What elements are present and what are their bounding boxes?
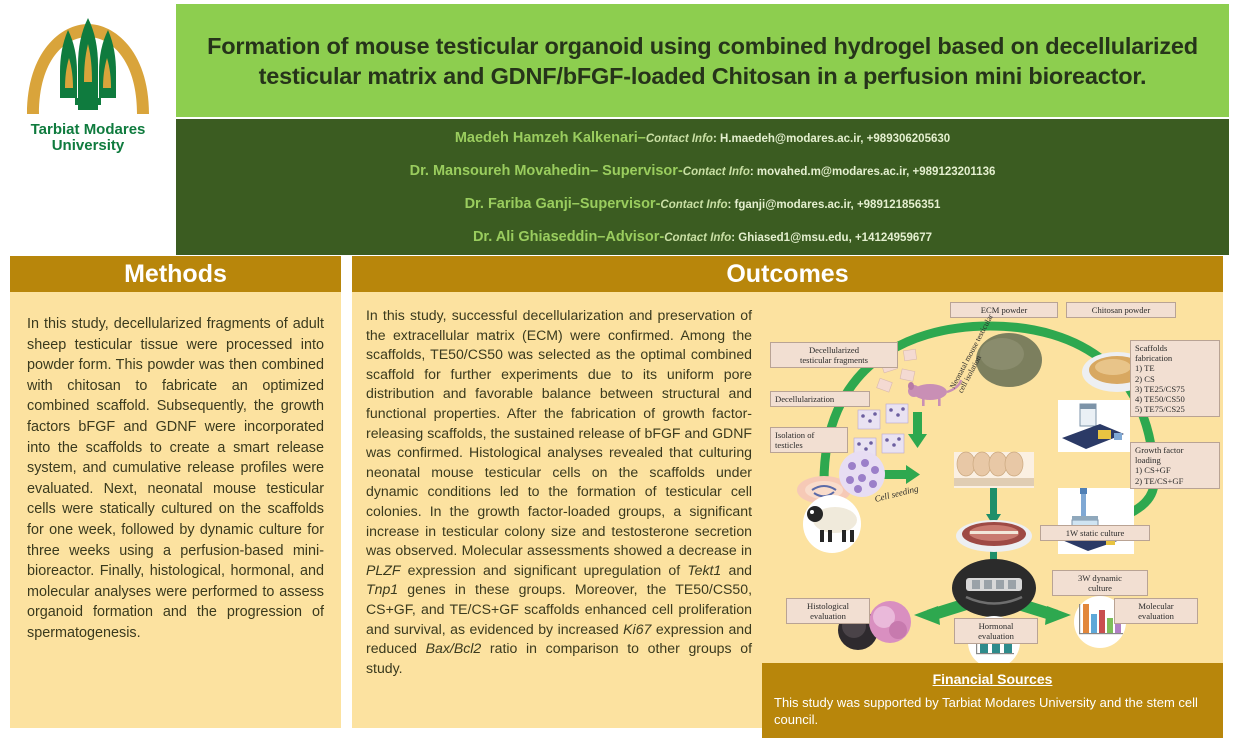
poster-title-banner: Formation of mouse testicular organoid u… [176, 4, 1229, 117]
poster-title: Formation of mouse testicular organoid u… [190, 31, 1215, 91]
diagram-label-histological-evaluation: Histological evaluation [786, 598, 870, 624]
diagram-label-growth-factor-loading: Growth factor loading 1) CS+GF 2) TE/CS+… [1130, 442, 1220, 489]
author-name: Dr. Fariba Ganji–Supervisor [465, 196, 656, 212]
methods-column: Methods In this study, decellularized fr… [10, 256, 341, 728]
outcomes-heading: Outcomes [726, 260, 848, 289]
authors-contact-block: Maedeh Hamzeh Kalkenari–Contact Info: H.… [176, 119, 1229, 255]
outcomes-section-body: In this study, successful decellularizat… [352, 292, 1223, 728]
contact-details: : Ghiased1@msu.edu, +14124959677 [731, 232, 932, 244]
financial-sources-heading: Financial Sources [774, 671, 1211, 687]
outcomes-section-header: Outcomes [352, 256, 1223, 292]
author-name: Dr. Ali Ghiaseddin–Advisor [473, 229, 659, 245]
author-line: Maedeh Hamzeh Kalkenari–Contact Info: H.… [186, 130, 1219, 147]
author-line: Dr. Mansoureh Movahedin– Supervisor-Cont… [186, 163, 1219, 180]
author-line: Dr. Ali Ghiaseddin–Advisor-Contact Info:… [186, 229, 1219, 246]
outcomes-column: Outcomes In this study, successful decel… [352, 256, 1223, 728]
scaffold-item: 2) CS [1135, 374, 1215, 384]
outcomes-text-1: In this study, successful decellularizat… [366, 307, 752, 558]
gene-tnp1: Tnp1 [366, 581, 398, 597]
workflow-diagram-wrap: ECM powder Chitosan powder Decellularize… [762, 292, 1223, 728]
logo-name-line1: Tarbiat Modares [31, 121, 146, 138]
poster-root: Tarbiat Modares University Formation of … [0, 0, 1233, 731]
logo-name-line2: University [31, 138, 146, 154]
university-logo-block: Tarbiat Modares University [0, 0, 176, 255]
author-name: Maedeh Hamzeh Kalkenari [455, 130, 638, 146]
outcomes-text-2: expression and significant upregulation … [400, 562, 687, 578]
scaffolds-fabrication-title: Scaffolds fabrication [1135, 343, 1215, 363]
experimental-workflow-diagram: ECM powder Chitosan powder Decellularize… [762, 292, 1223, 663]
diagram-label-hormonal-evaluation: Hormonal evaluation [954, 618, 1038, 644]
diagram-label-dynamic-culture: 3W dynamic culture [1052, 570, 1148, 596]
diagram-label-decellularization: Decellularization [770, 391, 870, 407]
methods-section-body: In this study, decellularized fragments … [10, 292, 341, 728]
contact-details: : H.maedeh@modares.ac.ir, +989306205630 [713, 133, 950, 145]
outcomes-paragraph: In this study, successful decellularizat… [366, 306, 752, 678]
outcomes-text-3: and [721, 562, 752, 578]
gene-bax-bcl2: Bax/Bcl2 [426, 640, 482, 656]
methods-paragraph: In this study, decellularized fragments … [27, 314, 324, 644]
scaffold-item: 4) TE50/CS50 [1135, 394, 1215, 404]
scaffold-item: 3) TE25/CS75 [1135, 384, 1215, 394]
scaffold-item: 5) TE75/CS25 [1135, 404, 1215, 414]
methods-heading: Methods [124, 260, 227, 289]
tarbiat-modares-arch-tulip-logo [13, 10, 163, 120]
contact-details: : movahed.m@modares.ac.ir, +989123201136 [750, 166, 996, 178]
outcomes-text-block: In this study, successful decellularizat… [352, 292, 762, 728]
author-name: Dr. Mansoureh Movahedin– Supervisor [410, 163, 678, 179]
diagram-label-scaffolds-fabrication: Scaffolds fabrication 1) TE 2) CS 3) TE2… [1130, 340, 1220, 417]
growth-factor-item: 1) CS+GF [1135, 465, 1215, 475]
diagram-label-isolation-of-testicles: Isolation of testicles [770, 427, 848, 453]
growth-factor-title: Growth factor loading [1135, 445, 1215, 465]
contact-info-label: Contact Info [664, 232, 731, 244]
author-line: Dr. Fariba Ganji–Supervisor-Contact Info… [186, 196, 1219, 213]
logo-university-name: Tarbiat Modares University [31, 122, 146, 154]
contact-info-label: Contact Info [660, 199, 727, 211]
diagram-label-static-culture: 1W static culture [1040, 525, 1150, 541]
financial-sources-box: Financial Sources This study was support… [762, 663, 1223, 738]
diagram-label-chitosan-powder: Chitosan powder [1066, 302, 1176, 318]
contact-info-label: Contact Info [646, 133, 713, 145]
contact-info-label: Contact Info [683, 166, 750, 178]
gene-tekt1: Tekt1 [687, 562, 721, 578]
contact-details: : fganji@modares.ac.ir, +989121856351 [728, 199, 941, 211]
growth-factor-item: 2) TE/CS+GF [1135, 476, 1215, 486]
gene-plzf: PLZF [366, 562, 400, 578]
financial-sources-text: This study was supported by Tarbiat Moda… [774, 694, 1211, 728]
methods-section-header: Methods [10, 256, 341, 292]
author-role-separator: – [638, 130, 646, 146]
diagram-label-molecular-evaluation: Molecular evaluation [1114, 598, 1198, 624]
diagram-label-decellularized-fragments: Decellularized testicular fragments [770, 342, 898, 368]
gene-ki67: Ki67 [623, 621, 651, 637]
scaffold-item: 1) TE [1135, 363, 1215, 373]
financial-sources-wrap: Financial Sources This study was support… [762, 663, 1223, 728]
